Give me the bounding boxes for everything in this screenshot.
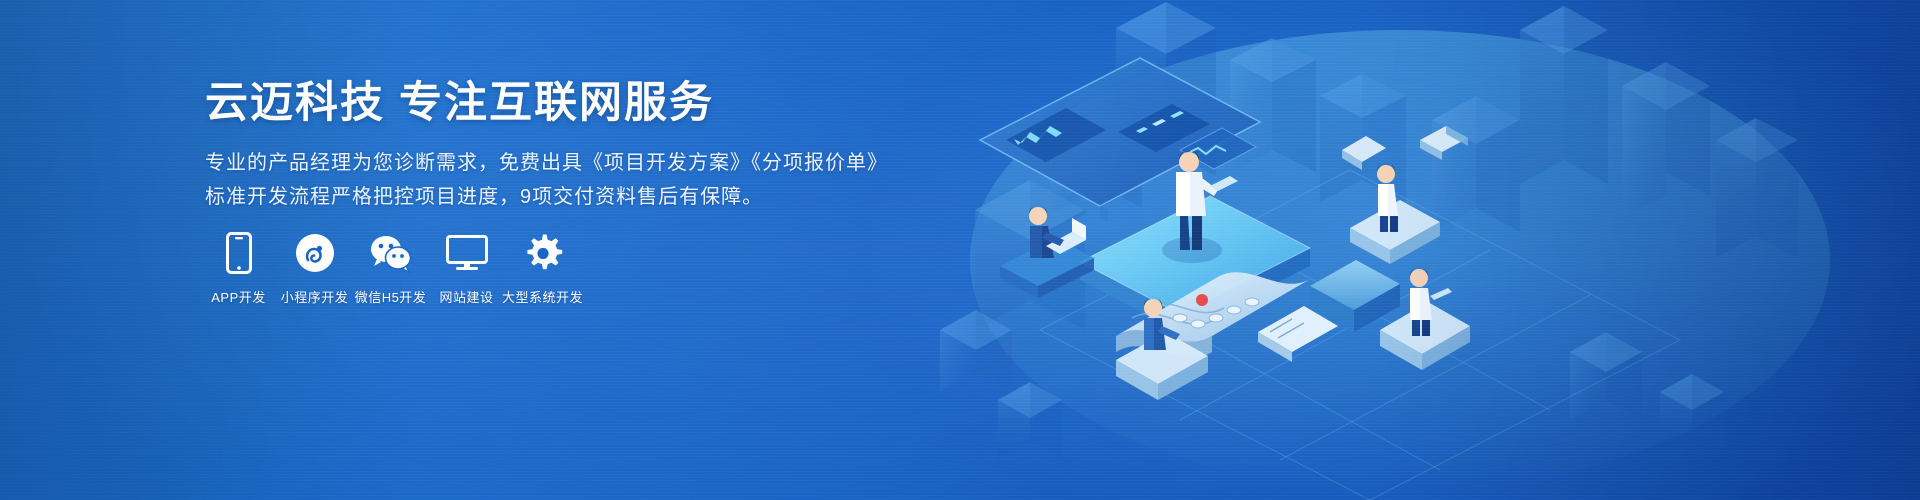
service-icon-row: APP开发 小程序开发	[203, 230, 578, 306]
service-item-mini-program[interactable]: 小程序开发	[279, 230, 350, 306]
monitor-icon	[446, 230, 488, 276]
wechat-icon	[369, 230, 413, 276]
service-item-wechat-h5[interactable]: 微信H5开发	[355, 230, 426, 306]
service-label-website: 网站建设	[439, 290, 493, 306]
hero-banner: 云迈科技 专注互联网服务 专业的产品经理为您诊断需求，免费出具《项目开发方案》《…	[0, 0, 1920, 500]
service-label-app: APP开发	[211, 290, 266, 306]
service-item-large-system[interactable]: 大型系统开发	[507, 230, 578, 306]
mini-program-icon	[295, 230, 335, 276]
service-label-mini-program: 小程序开发	[281, 290, 349, 306]
page-title: 云迈科技 专注互联网服务	[205, 78, 714, 128]
service-item-website[interactable]: 网站建设	[431, 230, 502, 306]
service-item-app[interactable]: APP开发	[203, 230, 274, 306]
subtitle-line-1: 专业的产品经理为您诊断需求，免费出具《项目开发方案》《分项报价单》	[205, 152, 888, 174]
gear-icon	[522, 230, 564, 276]
service-label-large-system: 大型系统开发	[502, 290, 583, 306]
isometric-illustration	[880, 0, 1920, 500]
subtitle-line-2: 标准开发流程严格把控项目进度，9项交付资料售后有保障。	[205, 180, 895, 214]
phone-icon	[226, 230, 252, 276]
service-label-wechat-h5: 微信H5开发	[355, 290, 427, 306]
banner-subtitle: 专业的产品经理为您诊断需求，免费出具《项目开发方案》《分项报价单》 标准开发流程…	[205, 146, 895, 214]
